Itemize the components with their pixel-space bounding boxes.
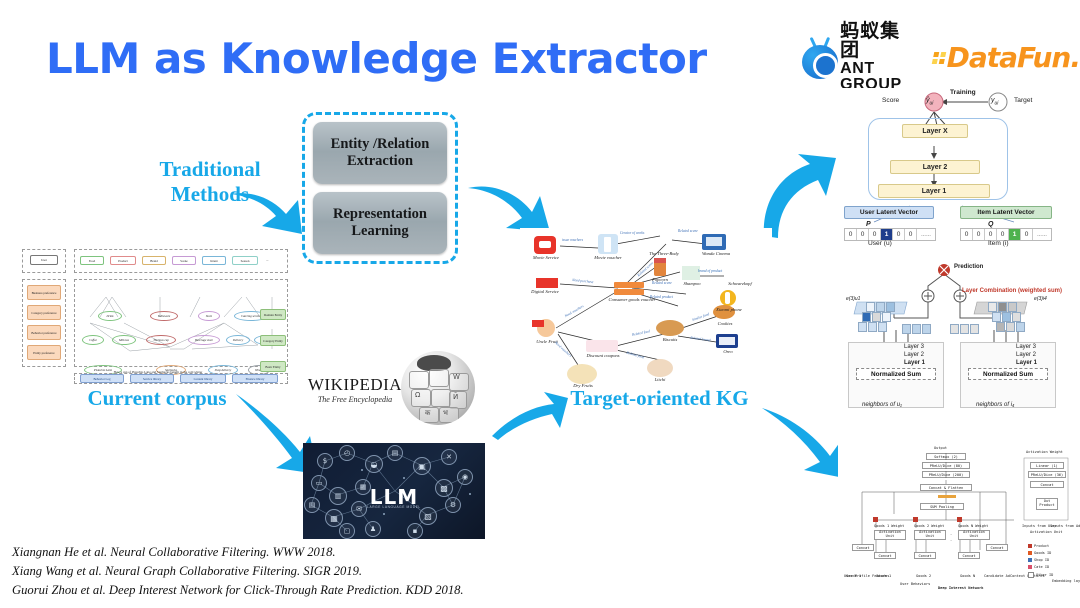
din-inputs-from-ad: Inputs from Ad [1050, 524, 1080, 528]
datafun-logo-text: DataFun. [947, 41, 1080, 74]
llm-node-icon: ◉ [457, 469, 473, 485]
fig-left-library-chip: Behavior Log [80, 374, 124, 383]
kg-node-label: The Three-Body [642, 252, 686, 257]
din-activation-unit: Activation Unit [874, 530, 906, 540]
figure-product-knowledge-graph: User Food Product Brand Scene Intent Sea… [22, 247, 290, 384]
gcn-user-embed-label: e(3)u1 [846, 296, 860, 302]
gcn-user-embedding-row [866, 302, 895, 312]
ncf-user-matrix: P [866, 221, 871, 228]
fig-left-node: Coffee [82, 335, 104, 345]
figure-neural-graph-collaborative-filtering: Prediction Layer Combination (weighted s… [838, 258, 1072, 422]
globe-glyph: भ [443, 409, 448, 418]
ncf-target-text: Target [1014, 97, 1032, 104]
kg-edge-label: Related scene [678, 230, 698, 234]
fig-left-top-chip: Scene [172, 256, 196, 265]
gcn-item-base-embedding [950, 324, 979, 334]
fig-left-node: Milk tea [112, 335, 136, 345]
box-entity-relation-extraction: Entity /RelationExtraction [313, 122, 447, 184]
kg-node-label: Oreo [716, 350, 740, 355]
din-concat: Concat [874, 552, 896, 559]
fig-left-pref-chip: Category preference [27, 305, 61, 320]
gcn-prediction-label: Prediction [954, 264, 983, 270]
kg-edge-label: brand of product [698, 270, 722, 274]
gcn-layer-1: Layer 1 [904, 360, 925, 366]
ant-circle-icon [800, 36, 834, 80]
ant-logo-cn: 蚂蚁集团 [840, 22, 919, 61]
din-concat: Concat [958, 552, 980, 559]
fig-left-node: Tableware [150, 311, 178, 321]
llm-node-icon: ♟ [365, 521, 381, 537]
gcn-normalized-sum-user: Normalized Sum [856, 368, 936, 380]
gcn-item-embedding-row [996, 322, 1025, 332]
ncf-user-latent-vector: User Latent Vector [844, 206, 934, 219]
kg-edge-label: issue vouchers [562, 239, 583, 243]
fig-left-top-chip: Season [232, 256, 258, 265]
ncf-user-caption: User (u) [868, 240, 892, 247]
kg-node-label: Litchi [646, 378, 674, 383]
gcn-layer-1: Layer 1 [1016, 360, 1037, 366]
din-legend-note: Embedding layer [1052, 579, 1080, 583]
fig-left-node: Store [198, 311, 220, 321]
din-legend-goods-id: Goods ID [1034, 551, 1051, 555]
figure-llm-network: $ ◴ ◒ ▤ ▣ ✕ ▭ ▥ ▦ ▩ ◉ ▤ ▦ ✉ ▧ ⚙ ▢ ♟ ▪ LL… [303, 443, 485, 539]
llm-node-icon: ✕ [441, 449, 457, 465]
arrow-traditional-to-methods [228, 176, 308, 238]
llm-node-icon: ▩ [435, 479, 453, 497]
ncf-item-caption: Item (i) [988, 240, 1009, 247]
kg-node-label: Uncle Fruit [526, 340, 568, 345]
ncf-layer-x: Layer X [902, 124, 968, 138]
wikipedia-tagline: The Free Encyclopedia [299, 395, 411, 404]
gcn-user-base-embedding [902, 324, 931, 334]
gcn-layer-3: Layer 3 [904, 344, 924, 350]
kg-node-label: Biscuits [650, 338, 690, 343]
figure-wikipedia-logo: WIKIPEDIA The Free Encyclopedia W Ω Й क … [297, 347, 483, 429]
gcn-neighbors-user: neighbors of u₁ [862, 402, 902, 408]
ncf-score-sub: ui [930, 100, 934, 106]
din-legend-shop-id: Shop ID [1034, 558, 1049, 562]
page-title: LLM as Knowledge Extractor [46, 34, 707, 83]
gcn-layer-3: Layer 3 [1016, 344, 1036, 350]
llm-node-icon: ▪ [407, 523, 423, 539]
llm-node-icon: ◒ [365, 455, 383, 473]
figure-target-oriented-kg: Movie Service Movie voucher The Three-Bo… [520, 228, 772, 390]
kg-node-label: Digital Service [522, 290, 568, 295]
llm-node-icon: ▤ [387, 445, 403, 461]
gcn-item-embed-label: e(3)i4 [1034, 296, 1047, 302]
ant-group-logo: 蚂蚁集团 ANT GROUP [800, 22, 919, 93]
llm-node-icon: ▣ [413, 457, 431, 475]
slide-canvas: LLM as Knowledge Extractor 蚂蚁集团 ANT GROU… [0, 0, 1080, 608]
din-user-behaviors: User Behaviors [900, 582, 930, 586]
din-concat: Concat [914, 552, 936, 559]
fig-left-entity-chip: Category Entity [260, 335, 286, 346]
fig-left-library-chip: Service library [130, 374, 174, 383]
logo-bar: 蚂蚁集团 ANT GROUP DataFun. [800, 22, 1080, 93]
din-activation-unit: Activation Unit [914, 530, 946, 540]
llm-node-icon: ▤ [304, 497, 320, 513]
din-side-concat: Concat [1030, 481, 1064, 488]
llm-node-icon: ▢ [339, 523, 355, 539]
gcn-neighbors-item: neighbors of i₄ [976, 402, 1014, 408]
arrow-kg-to-din [760, 400, 848, 482]
din-activation-unit: Activation Unit [958, 530, 990, 540]
fig-left-entity-chip: Basic Entity [260, 361, 286, 372]
gcn-layer-2: Layer 2 [1016, 352, 1036, 358]
datafun-dots-icon [931, 52, 946, 64]
llm-node-icon: ▦ [325, 509, 343, 527]
fig-left-root-chip: User [30, 255, 58, 265]
din-goods2-weight: Goods 2 Weight [914, 524, 944, 528]
fig-left-node: Beverage store [188, 335, 220, 345]
din-goods-n: Goods N [960, 574, 975, 578]
llm-node-icon: ◴ [339, 445, 355, 461]
ncf-target-sub: ui [995, 100, 999, 106]
kg-node-label: Movie Service [524, 256, 568, 261]
box-representation-learning: RepresentationLearning [313, 192, 447, 254]
kg-node-label: Dry Fruits [562, 384, 604, 389]
fig-left-pref-chip: Entity preference [27, 345, 61, 360]
kg-edge-label: Related scene [652, 282, 672, 286]
traditional-methods-group: Entity /RelationExtraction Representatio… [302, 112, 458, 264]
fig-left-entity-chip: Domain Entity [260, 309, 286, 320]
ncf-layer-2: Layer 2 [890, 160, 980, 174]
kg-node-label: Movie voucher [584, 256, 632, 261]
din-concat: Concat [852, 544, 874, 551]
gcn-layer-2: Layer 2 [904, 352, 924, 358]
din-out-product: Out Product [1036, 498, 1058, 510]
wikipedia-globe-icon: W Ω Й क भ [401, 351, 475, 425]
gcn-normalized-sum-item: Normalized Sum [968, 368, 1048, 380]
label-current-corpus: Current corpus [62, 386, 252, 411]
wikipedia-wordmark: WIKIPEDIA [299, 375, 411, 395]
kg-node-label: Cookies [706, 322, 744, 327]
ncf-item-matrix: Q [988, 221, 993, 228]
fig-left-top-chip: Food [80, 256, 104, 265]
kg-node-label: Wanda Cinema [694, 252, 738, 257]
din-goods1-weight: Goods 1 Weight [874, 524, 904, 528]
fig-left-node: Drink [98, 311, 122, 321]
ncf-layer-1: Layer 1 [878, 184, 990, 198]
fig-left-top-chip: ... [266, 259, 268, 262]
figure-deep-interest-network: Output Softmax (2) PReLU/Dice (80) PReLU… [838, 440, 1072, 590]
ncf-item-latent-vector: Item Latent Vector [960, 206, 1052, 219]
din-legend-cate-id: Cate ID [1034, 565, 1049, 569]
gcn-layer-combination-label: Layer Combination (weighted sum) [962, 288, 1062, 294]
kg-edge-label: Related product [650, 296, 673, 300]
din-side-activation-unit: Activation Unit [1030, 530, 1062, 534]
fig-left-top-chip: Intent [202, 256, 226, 265]
llm-node-icon: ✉ [351, 501, 367, 517]
ncf-score-label: Score [882, 97, 899, 104]
fig-left-pref-chip: Business preference [27, 285, 61, 300]
figure-neural-collaborative-filtering: ... Score ŷui Training yui Target Layer … [838, 88, 1072, 246]
globe-glyph: Ω [415, 391, 420, 399]
din-legend-product: Product [1034, 544, 1049, 548]
ncf-training-label: Training [950, 89, 976, 96]
fig-left-library-chip: Content library [180, 374, 226, 383]
din-linear-1: Linear (1) [1030, 462, 1064, 469]
din-activation-weight-title: Activation Weight [1026, 450, 1063, 454]
fig-left-library-chip: Finance library [232, 374, 278, 383]
din-prelu-36: PReLU/Dice (36) [1028, 471, 1066, 478]
din-goods-2: Goods 2 [916, 574, 931, 578]
llm-node-icon: ▦ [355, 479, 371, 495]
fig-left-pref-chip: Behavior preference [27, 325, 61, 340]
llm-node-icon: ▭ [311, 475, 327, 491]
globe-glyph: W [453, 373, 460, 381]
llm-sub-label: LARGE LANGUAGE MODEL [367, 505, 421, 509]
fig-left-node: Delivery [226, 335, 250, 345]
gcn-user-embedding-row [858, 322, 887, 332]
kg-node-label: Xiaomi phone [706, 308, 752, 313]
llm-node-icon: ▥ [329, 487, 347, 505]
citation-item: Xiangnan He et al. Neural Collaborative … [12, 543, 464, 562]
globe-glyph: क [425, 409, 430, 418]
kg-node-label: Schwarzkopf [718, 282, 762, 287]
llm-node-icon: ⚙ [445, 497, 461, 513]
din-goods-1: Goods 1 [876, 574, 891, 578]
llm-node-icon: ▧ [419, 507, 437, 525]
din-concat: Concat [986, 544, 1008, 551]
gcn-item-embedding-row [988, 302, 1017, 312]
llm-node-icon: $ [317, 453, 333, 469]
din-title: Deep Interest Network [938, 586, 983, 590]
kg-node-label: Discount coupons [578, 354, 628, 359]
fig-left-top-chip: Product [110, 256, 136, 265]
din-candidate-ad: Candidate Ad [984, 574, 1010, 578]
kg-edge-label: Creator of works [620, 232, 644, 236]
globe-glyph: Й [453, 393, 458, 401]
citation-item: Xiang Wang et al. Neural Graph Collabora… [12, 562, 464, 581]
kg-node-label: Shampoo [676, 282, 708, 287]
citation-item: Guorui Zhou et al. Deep Interest Network… [12, 581, 464, 600]
gcn-item-embedding-row [992, 312, 1021, 322]
fig-left-top-chip: Brand [142, 256, 166, 265]
datafun-logo: DataFun. [933, 41, 1080, 74]
citation-list: Xiangnan He et al. Neural Collaborative … [12, 543, 464, 600]
din-goodsN-weight: Goods N Weight [958, 524, 988, 528]
gcn-user-embedding-row [862, 312, 891, 322]
din-legend-other-id: Other ID [1036, 573, 1053, 577]
fig-left-node: Thermos cup [146, 335, 176, 345]
